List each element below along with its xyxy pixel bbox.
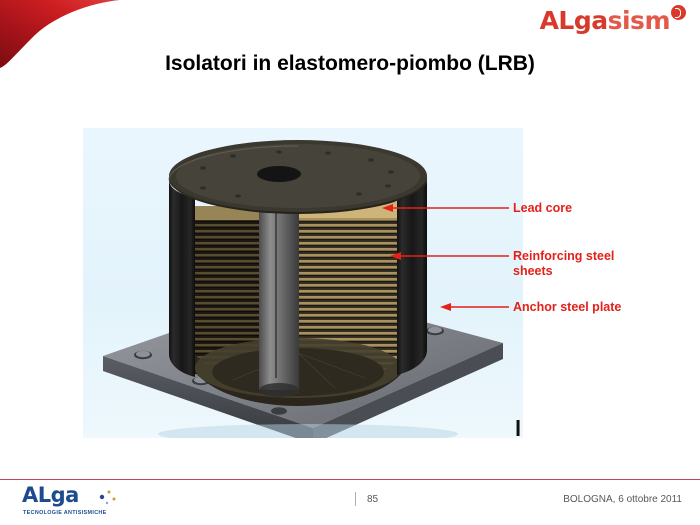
page-number: 85 <box>367 494 378 505</box>
stray-text-glyph: l <box>515 418 521 440</box>
footer-logo-dots-icon <box>96 486 122 508</box>
registered-badge-icon <box>671 5 686 20</box>
lrb-bearing-render <box>83 128 523 438</box>
footer-tagline: TECNOLOGIE ANTISISMICHE <box>23 510 107 516</box>
figure-image <box>83 128 523 438</box>
brand-logo: ALgasism <box>540 8 686 38</box>
brand-logo-text: ALgasism <box>540 8 670 33</box>
footer-place-date: BOLOGNA, 6 ottobre 2011 <box>563 494 682 505</box>
lead-core-group <box>259 183 299 397</box>
callout-anchor-steel-plate: Anchor steel plate <box>513 300 621 315</box>
callout-lead-core: Lead core <box>513 201 572 216</box>
callout-reinforcing-steel-sheets: Reinforcing steel sheets <box>513 249 643 279</box>
brand-logo-text-alga: ALga <box>540 6 608 35</box>
brand-logo-text-sism: sism <box>608 6 670 35</box>
footer-logo-text: ALga <box>22 485 79 506</box>
footer-logo: ALga <box>22 485 152 507</box>
footer-divider <box>0 479 700 480</box>
footer-separator <box>355 492 356 506</box>
page-title: Isolatori in elastomero-piombo (LRB) <box>0 52 700 76</box>
